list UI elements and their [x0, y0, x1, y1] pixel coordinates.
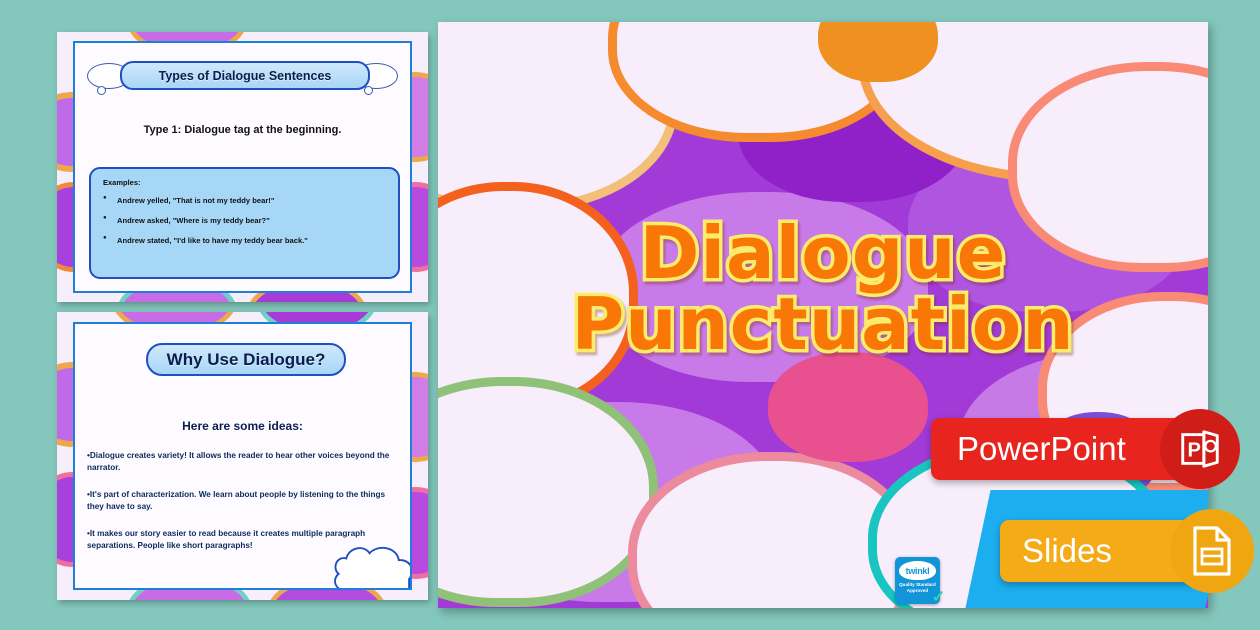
powerpoint-badge-label: PowerPoint [957, 430, 1126, 468]
twinkl-wordmark: twinkl [906, 566, 930, 576]
thumbnail-2-paragraph-2: •It's part of characterization. We learn… [87, 489, 398, 513]
title-line-1: Dialogue [438, 218, 1208, 289]
powerpoint-letter: P [1188, 440, 1201, 462]
twinkl-cloud-logo-icon: twinkl [899, 561, 936, 580]
thumbnail-1-heading: Type 1: Dialogue tag at the beginning. [75, 124, 410, 136]
slides-badge-label: Slides [1022, 532, 1112, 570]
powerpoint-format-badge[interactable]: PowerPoint P [931, 418, 1211, 480]
thumbnail-1-banner-title: Types of Dialogue Sentences [120, 61, 370, 90]
google-slides-icon [1170, 509, 1254, 593]
list-item: Andrew asked, "Where is my teddy bear?" [117, 216, 386, 225]
screenshot-root: Types of Dialogue Sentences Type 1: Dial… [0, 0, 1260, 630]
main-title: Dialogue Punctuation [438, 218, 1208, 359]
slide-thumbnail-why-use-dialogue[interactable]: Why Use Dialogue? Here are some ideas: •… [57, 312, 428, 600]
thumbnail-2-paragraph-1: •Dialogue creates variety! It allows the… [87, 450, 398, 474]
slide-thumbnail-types-of-dialogue-sentences[interactable]: Types of Dialogue Sentences Type 1: Dial… [57, 32, 428, 302]
list-item: Andrew yelled, "That is not my teddy bea… [117, 196, 386, 205]
slides-document-glyph [1189, 525, 1235, 577]
examples-list: Andrew yelled, "That is not my teddy bea… [103, 196, 386, 245]
speech-bubble-cloud-decoration [330, 536, 412, 590]
heading-text: Type 1: Dialogue tag at the beginning. [144, 124, 342, 136]
google-slides-format-badge[interactable]: Slides [1000, 520, 1230, 582]
list-item: Andrew stated, "I'd like to have my tedd… [117, 236, 386, 245]
thumbnail-slide-card: Why Use Dialogue? Here are some ideas: •… [73, 322, 412, 590]
thumbnail-slide-card: Types of Dialogue Sentences Type 1: Dial… [73, 41, 412, 293]
powerpoint-icon: P [1160, 409, 1240, 489]
check-mark-icon: ✓ [932, 587, 945, 607]
thumbnail-1-examples-box: Examples: Andrew yelled, "That is not my… [89, 167, 400, 279]
powerpoint-glyph: P [1177, 426, 1223, 472]
banner-title-text: Types of Dialogue Sentences [159, 69, 332, 83]
title-line-2: Punctuation [438, 289, 1208, 360]
examples-label: Examples: [103, 178, 386, 187]
cloud-shape [768, 352, 928, 462]
thumbnail-2-heading: Here are some ideas: [75, 419, 410, 433]
banner-title-text: Why Use Dialogue? [167, 350, 326, 370]
thumbnail-2-banner-title: Why Use Dialogue? [146, 343, 346, 376]
heading-text: Here are some ideas: [182, 419, 303, 433]
twinkl-quality-standard-approved-badge: twinkl Quality Standard Approved ✓ [895, 557, 940, 604]
